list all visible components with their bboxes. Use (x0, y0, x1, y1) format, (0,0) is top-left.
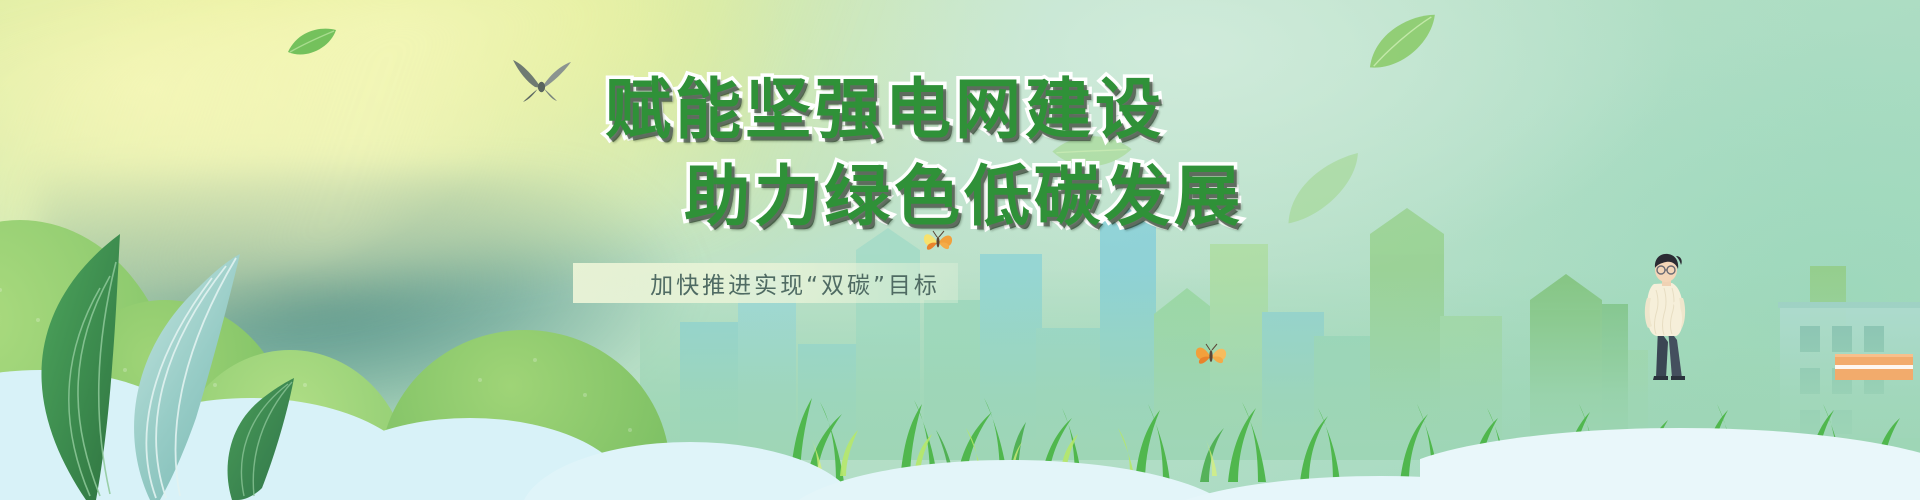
subtitle-text: 加快推进实现“双碳”目标 (620, 266, 970, 300)
butterfly-icon (921, 228, 955, 256)
foreground-leaves (0, 200, 560, 500)
swallow-bird-icon (505, 60, 575, 102)
leaf-icon (286, 26, 338, 60)
eco-power-grid-banner: 赋能坚强电网建设 助力绿色低碳发展 加快推进实现“双碳”目标 (0, 0, 1920, 500)
bottom-right-mound (1420, 380, 1920, 500)
